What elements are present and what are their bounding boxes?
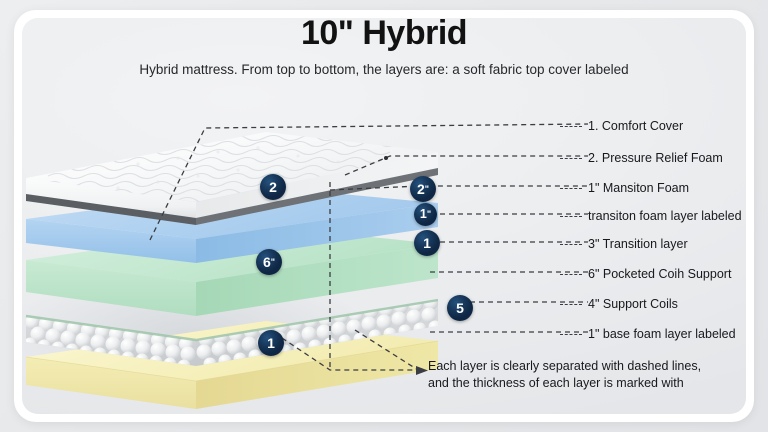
layer-label-text: 3" Transition layer	[588, 237, 688, 251]
layer-label-item[interactable]: 1" base foam layer labeled	[560, 326, 736, 342]
badge-cover-left: 2	[260, 174, 286, 200]
page-title: 10" Hybrid	[0, 14, 768, 53]
badge-base-left: 1	[258, 330, 284, 356]
badge-value: 5	[456, 301, 464, 315]
badge-value: 1	[267, 336, 275, 350]
diagram-caption: Each layer is clearly separated with das…	[428, 358, 746, 392]
label-dash-icon	[560, 188, 582, 189]
layer-label-text: 1" Mansiton Foam	[588, 181, 689, 195]
label-dash-icon	[560, 304, 582, 305]
layer-label-item[interactable]: 3" Transition layer	[560, 236, 688, 252]
layer-label-text: 2. Pressure Relief Foam	[588, 151, 723, 165]
badge-value: 1	[423, 236, 431, 250]
badge-green-left: 6"	[256, 249, 282, 275]
badge-blue-right: 1"	[414, 203, 437, 226]
layer-label-item[interactable]: 1" Mansiton Foam	[560, 180, 689, 196]
mattress-illustration: 2 2" 1" 1 6" 5 1	[18, 118, 438, 376]
layer-label-item[interactable]: transiton foam layer labeled	[560, 208, 742, 224]
diagram-canvas: 10" Hybrid Hybrid mattress. From top to …	[0, 0, 768, 432]
layer-label-item[interactable]: 2. Pressure Relief Foam	[560, 150, 723, 166]
layer-label-text: 4" Support Coils	[588, 297, 678, 311]
label-dash-icon	[560, 244, 582, 245]
badge-green-right: 1	[414, 230, 440, 256]
label-dash-icon	[560, 274, 582, 275]
caption-line-1: Each layer is clearly separated with das…	[428, 358, 746, 375]
layer-label-item[interactable]: 6" Pocketed Coih Support	[560, 266, 731, 282]
layer-label-item[interactable]: 4" Support Coils	[560, 296, 678, 312]
badge-value: 6	[263, 255, 271, 269]
layer-label-item[interactable]: 1. Comfort Cover	[560, 118, 683, 134]
layer-comfort-cover	[18, 118, 438, 238]
badge-value: 1	[420, 208, 427, 221]
caption-line-2: and the thickness of each layer is marke…	[428, 375, 746, 392]
label-dash-icon	[560, 158, 582, 159]
label-dash-icon	[560, 126, 582, 127]
badge-unit: "	[427, 210, 431, 219]
badge-cover-right: 2"	[410, 176, 436, 202]
page-subtitle: Hybrid mattress. From top to bottom, the…	[0, 62, 768, 77]
badge-value: 2	[269, 180, 277, 194]
layer-label-text: 1. Comfort Cover	[588, 119, 683, 133]
label-dash-icon	[560, 216, 582, 217]
layer-label-text: transiton foam layer labeled	[588, 209, 742, 223]
badge-base-right: 5	[447, 295, 473, 321]
badge-value: 2	[417, 182, 425, 196]
layer-label-text: 6" Pocketed Coih Support	[588, 267, 731, 281]
label-dash-icon	[560, 334, 582, 335]
layer-label-text: 1" base foam layer labeled	[588, 327, 736, 341]
badge-unit: "	[271, 258, 275, 267]
badge-unit: "	[425, 185, 429, 194]
